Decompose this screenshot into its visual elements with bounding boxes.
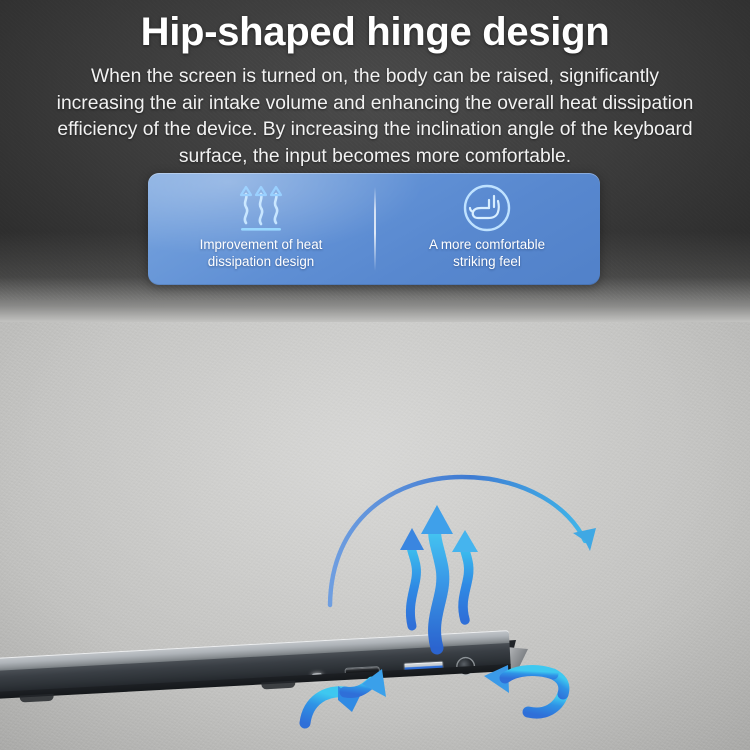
rubber-foot-right <box>261 681 295 690</box>
page-title: Hip-shaped hinge design <box>0 10 750 55</box>
feature-label-heat-dissipation: Improvement of heat dissipation design <box>200 236 323 270</box>
feature-label-striking-feel: A more comfortable striking feel <box>429 236 545 270</box>
description-paragraph: When the screen is turned on, the body c… <box>55 64 695 170</box>
feature-panel: Improvement of heat dissipation design A… <box>148 173 600 285</box>
feature-item-heat-dissipation: Improvement of heat dissipation design <box>148 173 374 285</box>
rubber-foot-left <box>20 694 54 703</box>
hand-typing-circle-icon <box>461 182 513 234</box>
heat-waves-icon <box>233 182 289 234</box>
feature-item-striking-feel: A more comfortable striking feel <box>374 173 600 285</box>
laptop-base <box>0 630 511 705</box>
product-feature-graphic: Hip-shaped hinge design When the screen … <box>0 0 750 750</box>
